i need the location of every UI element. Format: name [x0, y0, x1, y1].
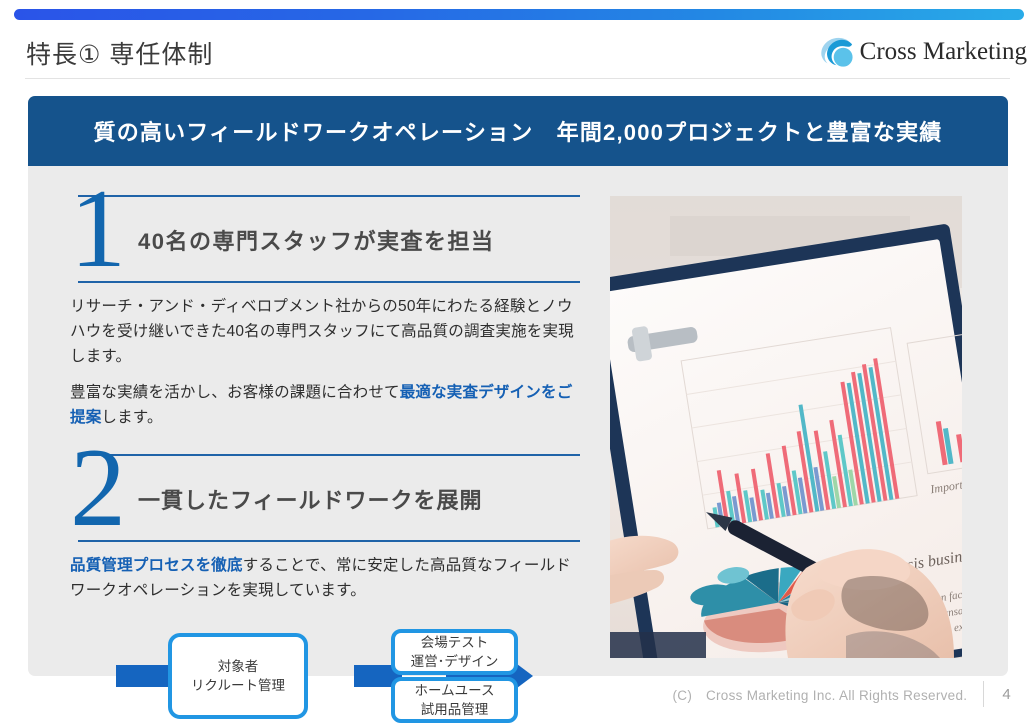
brand-logo: Cross Marketing [818, 33, 1027, 71]
logo-text: Cross Marketing [860, 38, 1027, 66]
photo-illustration: Important gium brand or A Succe [610, 196, 962, 658]
flow-box-recruit: 対象者 リクルート管理 [168, 633, 308, 719]
flow-box-venue-test-line1: 会場テスト [421, 633, 489, 652]
flow-box-venue-test-line2: 運営･デザイン [411, 652, 499, 671]
left-column: 1 40名の専門スタッフが実査を担当 リサーチ・アンド・ディベロプメント社からの… [70, 195, 580, 728]
section-1-rule-bottom [78, 281, 580, 283]
section-1-paragraph-1: リサーチ・アンド・ディベロプメント社からの50年にわたる経験とノウハウを受け継い… [70, 294, 580, 369]
flow-box-home-use-line1: ホームユース [415, 681, 495, 700]
footer-divider [983, 681, 984, 707]
section-2-title: 一貫したフィールドワークを展開 [138, 483, 483, 515]
header-divider [25, 78, 1010, 79]
section-2-header: 2 一貫したフィールドワークを展開 [70, 454, 580, 542]
page-number: 4 [1002, 686, 1011, 703]
section-2-rule-bottom [78, 540, 580, 542]
body-text: します。 [101, 409, 162, 426]
page-title: 特長① 専任体制 [26, 35, 213, 71]
section-2-number: 2 [70, 432, 126, 544]
flow-box-home-use-line2: 試用品管理 [421, 700, 489, 719]
section-1-paragraph-2: 豊富な実績を活かし、お客様の課題に合わせて最適な実査デザインをご提案します。 [70, 380, 580, 430]
photo-analyst-reviewing-charts: Important gium brand or A Succe [610, 196, 962, 658]
top-accent-bar [14, 9, 1024, 20]
footer-copyright: (C) Cross Marketing Inc. All Rights Rese… [673, 684, 968, 704]
flow-box-home-use: ホームユース 試用品管理 [391, 677, 518, 723]
wave-swoosh-circle-icon [818, 35, 856, 69]
section-1-title: 40名の専門スタッフが実査を担当 [138, 224, 494, 256]
emphasis-text: 品質管理プロセスを徹底 [70, 557, 243, 574]
section-2-paragraph-1: 品質管理プロセスを徹底することで、常に安定した高品質なフィールドワークオペレーシ… [70, 553, 580, 603]
section-1-rule-top [78, 195, 580, 197]
body-text: 豊富な実績を活かし、お客様の課題に合わせて [70, 384, 400, 401]
banner: 質の高いフィールドワークオペレーション 年間2,000プロジェクトと豊富な実績 [28, 96, 1008, 166]
flow-box-recruit-line1: 対象者 [218, 657, 259, 676]
footer: (C) Cross Marketing Inc. All Rights Rese… [673, 681, 1020, 707]
process-flow-diagram: 対象者 リクルート管理 会場テスト 運営･デザイン ホームユース 試用品管理 [116, 623, 546, 728]
banner-text: 質の高いフィールドワークオペレーション 年間2,000プロジェクトと豊富な実績 [94, 115, 943, 147]
section-2-rule-top [78, 454, 580, 456]
section-1-number: 1 [70, 173, 126, 285]
section-1-header: 1 40名の専門スタッフが実査を担当 [70, 195, 580, 283]
body-text: リサーチ・アンド・ディベロプメント社からの50年にわたる経験とノウハウを受け継い… [70, 298, 574, 365]
flow-box-venue-test: 会場テスト 運営･デザイン [391, 629, 518, 675]
flow-box-recruit-line2: リクルート管理 [191, 676, 285, 695]
